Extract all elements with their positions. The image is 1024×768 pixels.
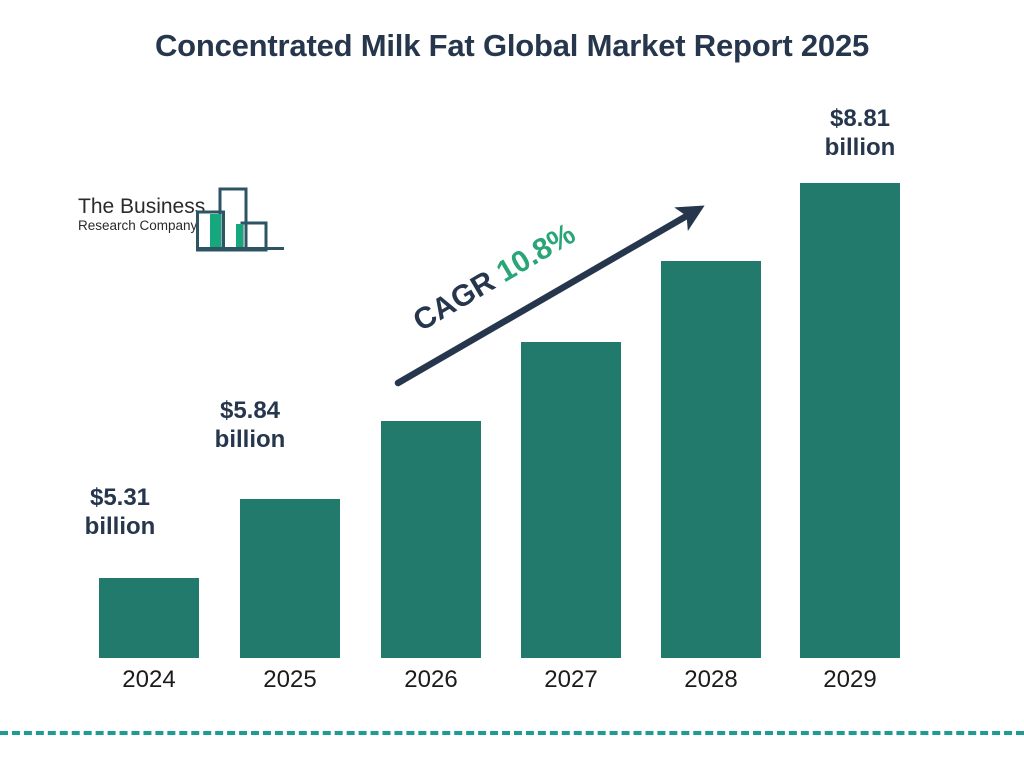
- value-label-2025-unit: billion: [190, 425, 310, 454]
- bar-chart-plot-area: $5.31 billion $5.84 billion $8.81 billio…: [0, 0, 1024, 768]
- bar-2024: [99, 578, 199, 658]
- value-label-2024-amount: $5.31: [60, 483, 180, 512]
- x-tick-2028: 2028: [651, 666, 771, 694]
- bar-2028: [661, 261, 761, 658]
- x-tick-2027: 2027: [511, 666, 631, 694]
- bar-2027: [521, 342, 621, 658]
- cagr-annotation: CAGR 10.8%: [408, 208, 601, 344]
- bar-2025: [240, 499, 340, 658]
- cagr-label-value: 10.8%: [491, 217, 581, 289]
- footer-divider: [0, 731, 1024, 735]
- x-tick-2024: 2024: [89, 666, 209, 694]
- chart-page: Concentrated Milk Fat Global Market Repo…: [0, 0, 1024, 768]
- x-tick-2026: 2026: [371, 666, 491, 694]
- x-tick-2025: 2025: [230, 666, 350, 694]
- value-label-2025-amount: $5.84: [190, 396, 310, 425]
- cagr-label-word: CAGR: [408, 265, 501, 338]
- value-label-2024: $5.31 billion: [60, 483, 180, 541]
- value-label-2024-unit: billion: [60, 512, 180, 541]
- bar-2029: [800, 183, 900, 658]
- value-label-2029-unit: billion: [800, 133, 920, 162]
- value-label-2029: $8.81 billion: [800, 104, 920, 162]
- value-label-2029-amount: $8.81: [800, 104, 920, 133]
- bar-2026: [381, 421, 481, 658]
- x-tick-2029: 2029: [790, 666, 910, 694]
- value-label-2025: $5.84 billion: [190, 396, 310, 454]
